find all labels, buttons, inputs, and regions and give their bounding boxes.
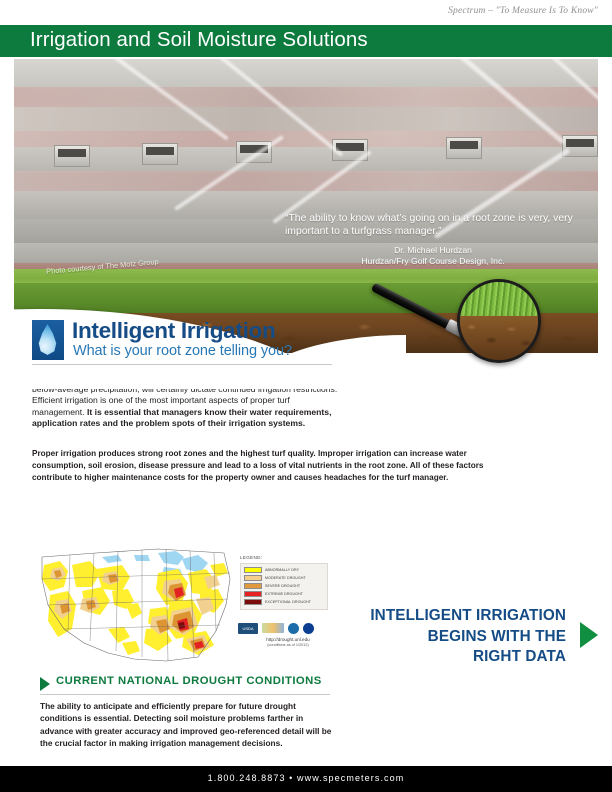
legend-label: EXTREME DROUGHT — [265, 592, 303, 596]
stadium-stand — [14, 59, 598, 89]
cpc-logo — [288, 623, 299, 634]
page-title-band: Irrigation and Soil Moisture Solutions — [0, 25, 612, 57]
attribution-name: Dr. Michael Hurdzan — [285, 245, 581, 256]
magnifier-lens — [457, 279, 541, 363]
legend-label: EXCEPTIONAL DROUGHT — [265, 600, 311, 604]
press-box — [446, 137, 482, 159]
map-agency-logos: USDA — [238, 621, 334, 635]
map-source-date: (conditions as of 1/2012) — [236, 643, 340, 647]
hero-quote-text: “The ability to know what’s going on in … — [285, 212, 595, 238]
hero-quote-attribution: Dr. Michael Hurdzan Hurdzan/Fry Golf Cou… — [285, 245, 595, 267]
legend-item: MODERATE DROUGHT — [244, 575, 324, 581]
drought-map-figure: LEGEND: ABNORMALLY DRY MODERATE DROUGHT … — [38, 543, 338, 671]
cta-line-3: RIGHT DATA — [346, 647, 566, 668]
page-title: Irrigation and Soil Moisture Solutions — [30, 28, 368, 52]
section-title: Intelligent Irrigation — [72, 318, 275, 344]
press-box — [142, 143, 178, 165]
legend-swatch — [244, 567, 262, 573]
cta-line-2: BEGINS WITH THE — [346, 627, 566, 648]
legend-swatch — [244, 591, 262, 597]
triangle-arrow-icon — [40, 677, 50, 691]
ndmc-logo — [262, 623, 284, 633]
page-footer: 1.800.248.8873 • www.specmeters.com — [0, 766, 612, 792]
legend-swatch — [244, 599, 262, 605]
legend-label: MODERATE DROUGHT — [265, 576, 306, 580]
legend-swatch — [244, 575, 262, 581]
drought-conditions-body: The ability to anticipate and efficientl… — [40, 700, 332, 749]
magnified-soil — [460, 316, 538, 360]
noaa-logo — [303, 623, 314, 634]
legend-box: ABNORMALLY DRY MODERATE DROUGHT SEVERE D… — [240, 563, 328, 610]
cta-arrow-icon — [580, 622, 598, 648]
footer-contact[interactable]: 1.800.248.8873 • www.specmeters.com — [0, 773, 612, 783]
stadium-stand — [14, 147, 598, 173]
drought-conditions-divider — [40, 694, 330, 695]
legend-item: SEVERE DROUGHT — [244, 583, 324, 589]
legend-title: LEGEND: — [240, 555, 328, 560]
hero-quote-block: “The ability to know what’s going on in … — [285, 212, 595, 267]
magnified-grass-blades — [460, 282, 538, 317]
legend-item: EXTREME DROUGHT — [244, 591, 324, 597]
legend-label: ABNORMALLY DRY — [265, 568, 299, 572]
magnifying-glass — [457, 279, 541, 363]
attribution-company: Hurdzan/Fry Golf Course Design, Inc. — [285, 256, 581, 267]
legend-item: ABNORMALLY DRY — [244, 567, 324, 573]
map-source-url[interactable]: http://drought.unl.edu — [236, 637, 340, 642]
secondary-paragraph: Proper irrigation produces strong root z… — [32, 448, 514, 485]
legend-swatch — [244, 583, 262, 589]
legend-label: SEVERE DROUGHT — [265, 584, 300, 588]
section-subtitle: What is your root zone telling you? — [73, 343, 292, 359]
drought-map-legend: LEGEND: ABNORMALLY DRY MODERATE DROUGHT … — [240, 555, 328, 610]
cta-line-1: INTELLIGENT IRRIGATION — [346, 606, 566, 627]
map-source: http://drought.unl.edu (conditions as of… — [236, 637, 340, 647]
cta-block: INTELLIGENT IRRIGATION BEGINS WITH THE R… — [346, 606, 566, 668]
heading-divider — [32, 364, 332, 365]
press-box — [54, 145, 90, 167]
company-tagline: Spectrum – "To Measure Is To Know" — [448, 6, 598, 16]
drought-conditions-title: CURRENT NATIONAL DROUGHT CONDITIONS — [56, 675, 322, 687]
legend-item: EXCEPTIONAL DROUGHT — [244, 599, 324, 605]
brochure-page: Spectrum – "To Measure Is To Know" Irrig… — [0, 0, 612, 792]
us-drought-map — [38, 543, 234, 671]
water-droplet-icon — [32, 320, 64, 360]
usda-logo: USDA — [238, 623, 258, 634]
